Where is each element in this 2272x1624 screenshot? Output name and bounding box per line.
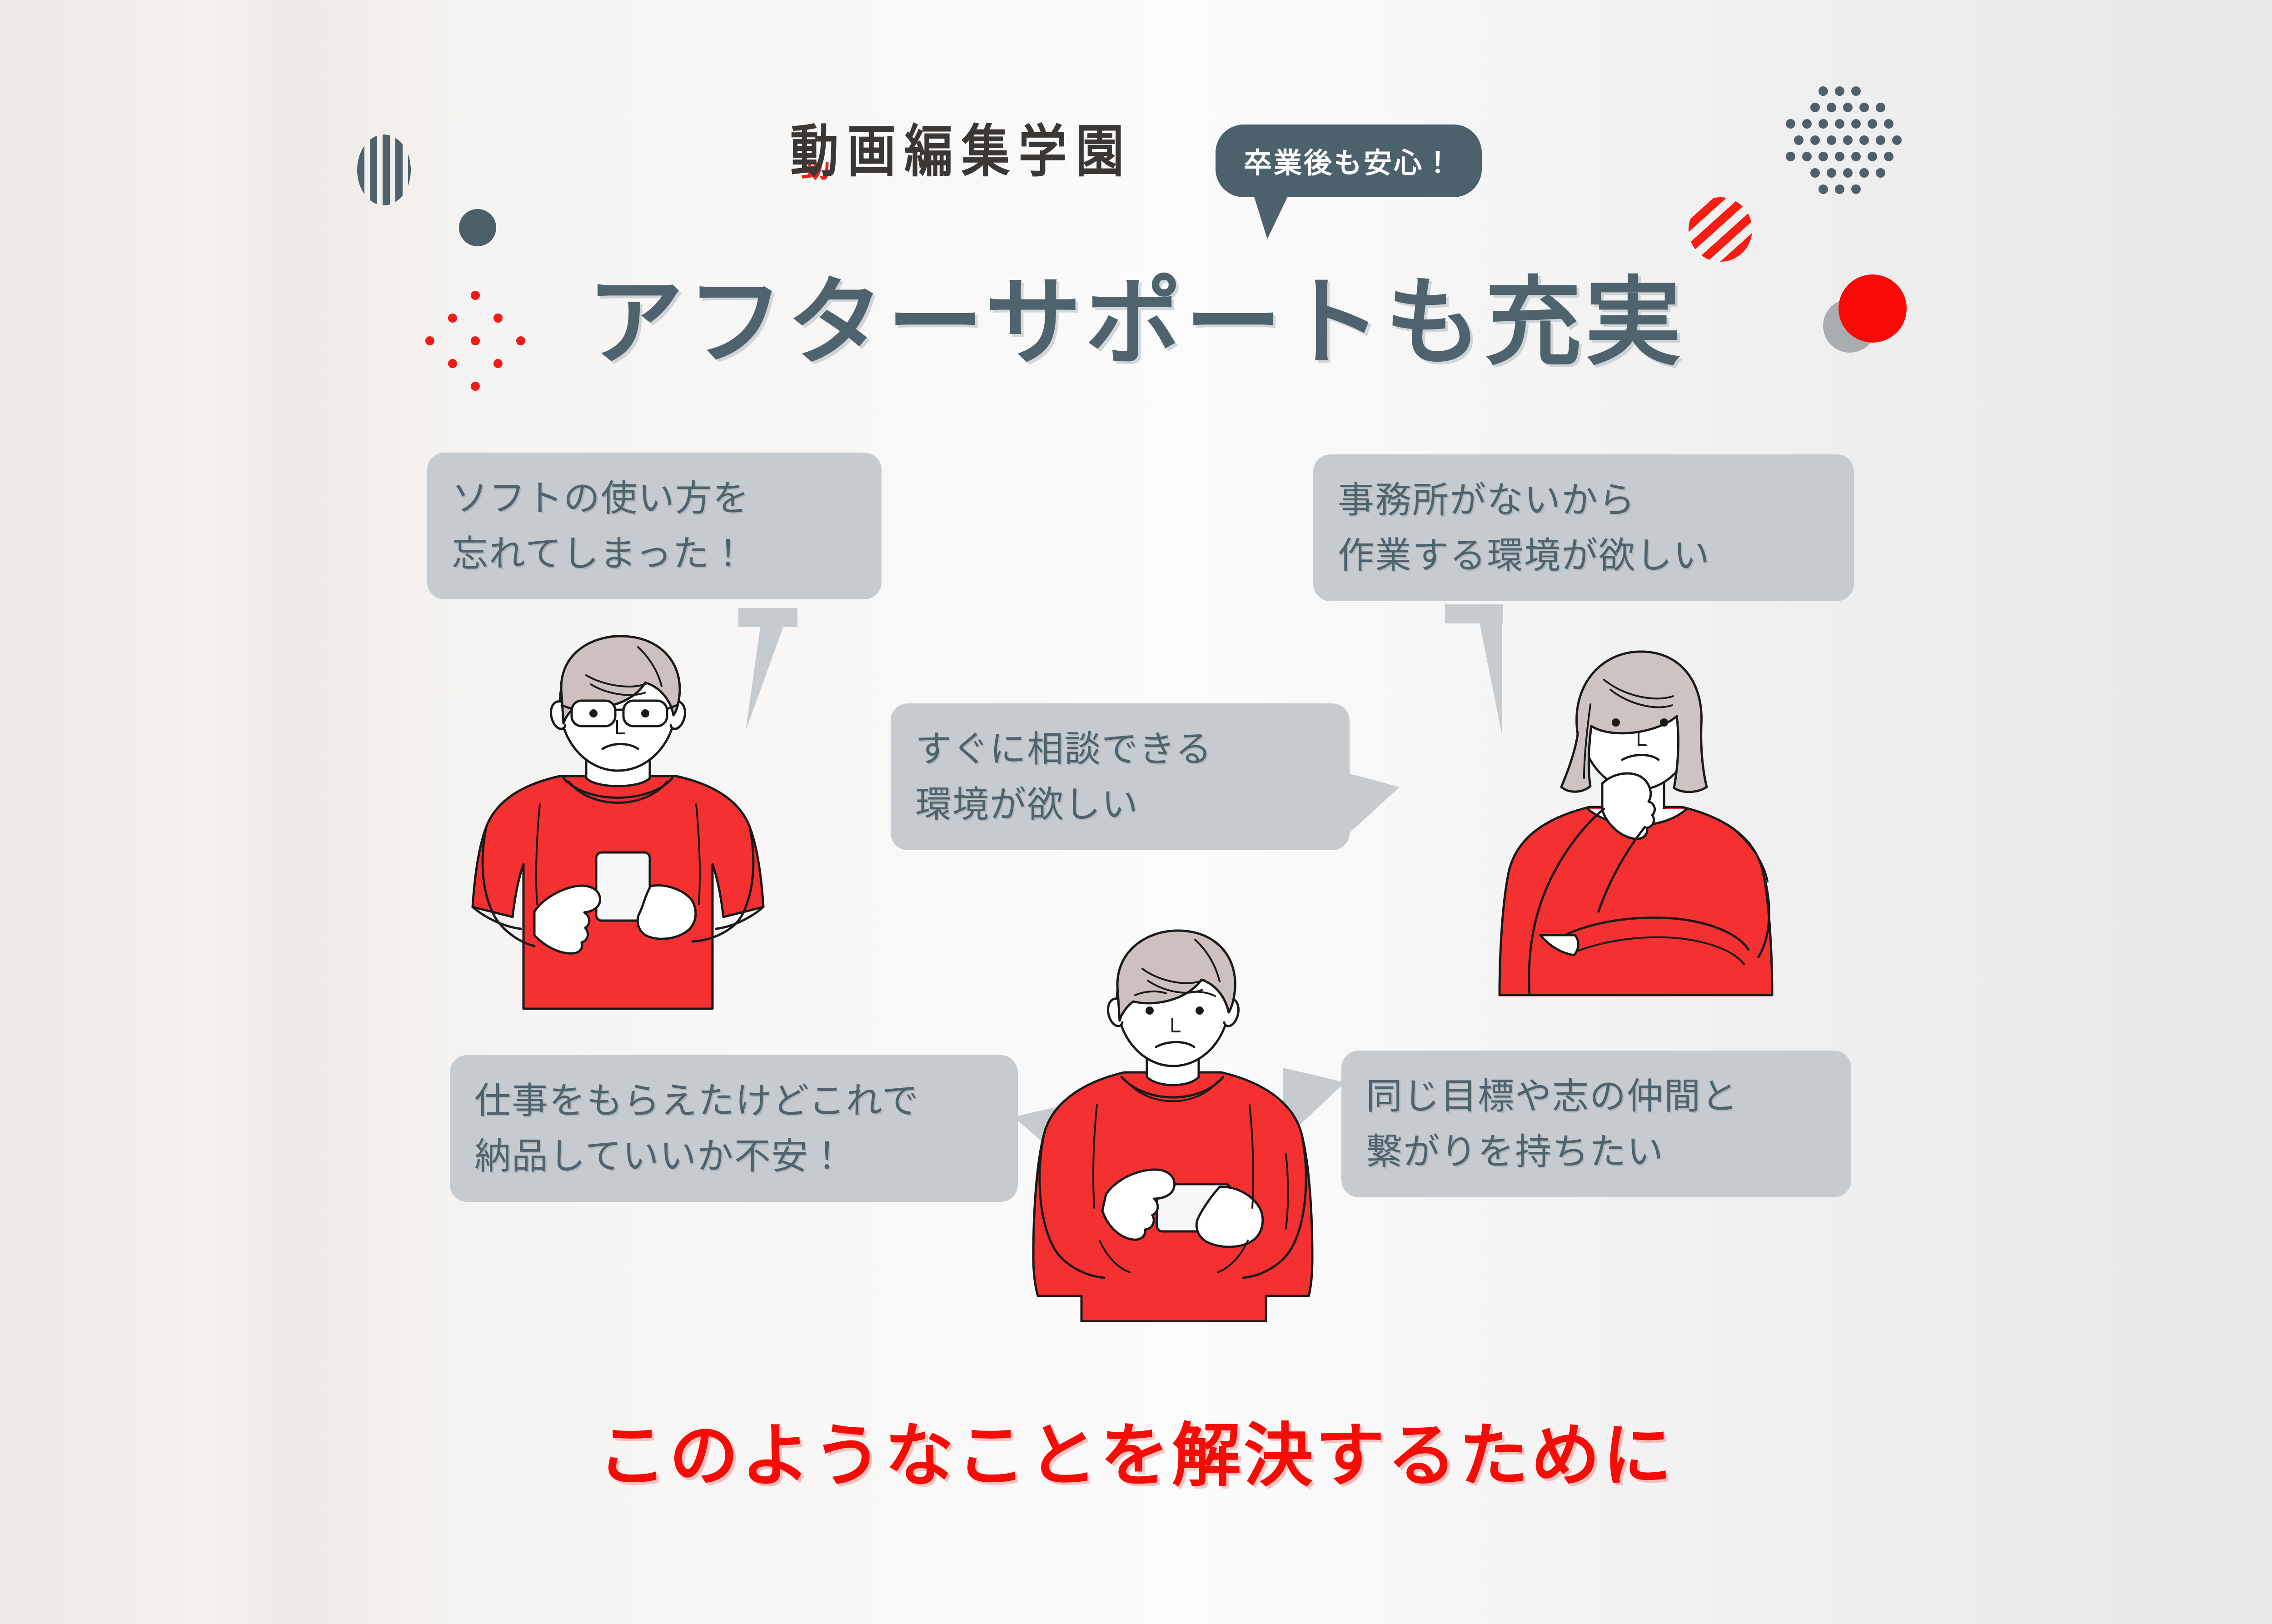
solid-dot-slate-icon bbox=[459, 209, 496, 246]
status-badge: 卒業後も安心！ bbox=[1216, 125, 1482, 197]
illustration-woman-thinking bbox=[1477, 636, 1795, 1045]
speech-bubble-tail bbox=[1345, 772, 1400, 837]
brand-logo: 動 動 画編集学園 bbox=[790, 124, 1132, 180]
speech-bubble-soft-usage: ソフトの使い方を 忘れてしまった！ bbox=[427, 453, 882, 599]
logo-main-character: 動 bbox=[790, 119, 847, 184]
illustration-man-with-glasses bbox=[454, 632, 782, 1036]
speech-bubble-consult: すぐに相談できる 環境が欲しい bbox=[891, 703, 1350, 850]
logo-rest-text: 画編集学園 bbox=[847, 124, 1133, 180]
page-title: アフターサポートも充実 bbox=[0, 244, 2272, 384]
speech-bubble-workspace: 事務所がないから 作業する環境が欲しい bbox=[1313, 454, 1854, 601]
speech-bubble-community: 同じ目標や志の仲間と 繋がりを持ちたい bbox=[1341, 1051, 1851, 1197]
logo-first-character: 動 動 bbox=[790, 124, 847, 180]
brand-header: 動 動 画編集学園 卒業後も安心！ bbox=[0, 124, 2272, 197]
speech-bubble-delivery-anxiety: 仕事をもらえたけどこれで 納品していいか不安！ bbox=[450, 1055, 1018, 1202]
closing-statement: このようなことを解決するために bbox=[0, 1400, 2272, 1499]
illustration-man-with-phone bbox=[1013, 927, 1331, 1322]
poster-canvas: 動 動 画編集学園 卒業後も安心！ アフターサポートも充実 ソフトの使い方を 忘… bbox=[0, 0, 2272, 1624]
